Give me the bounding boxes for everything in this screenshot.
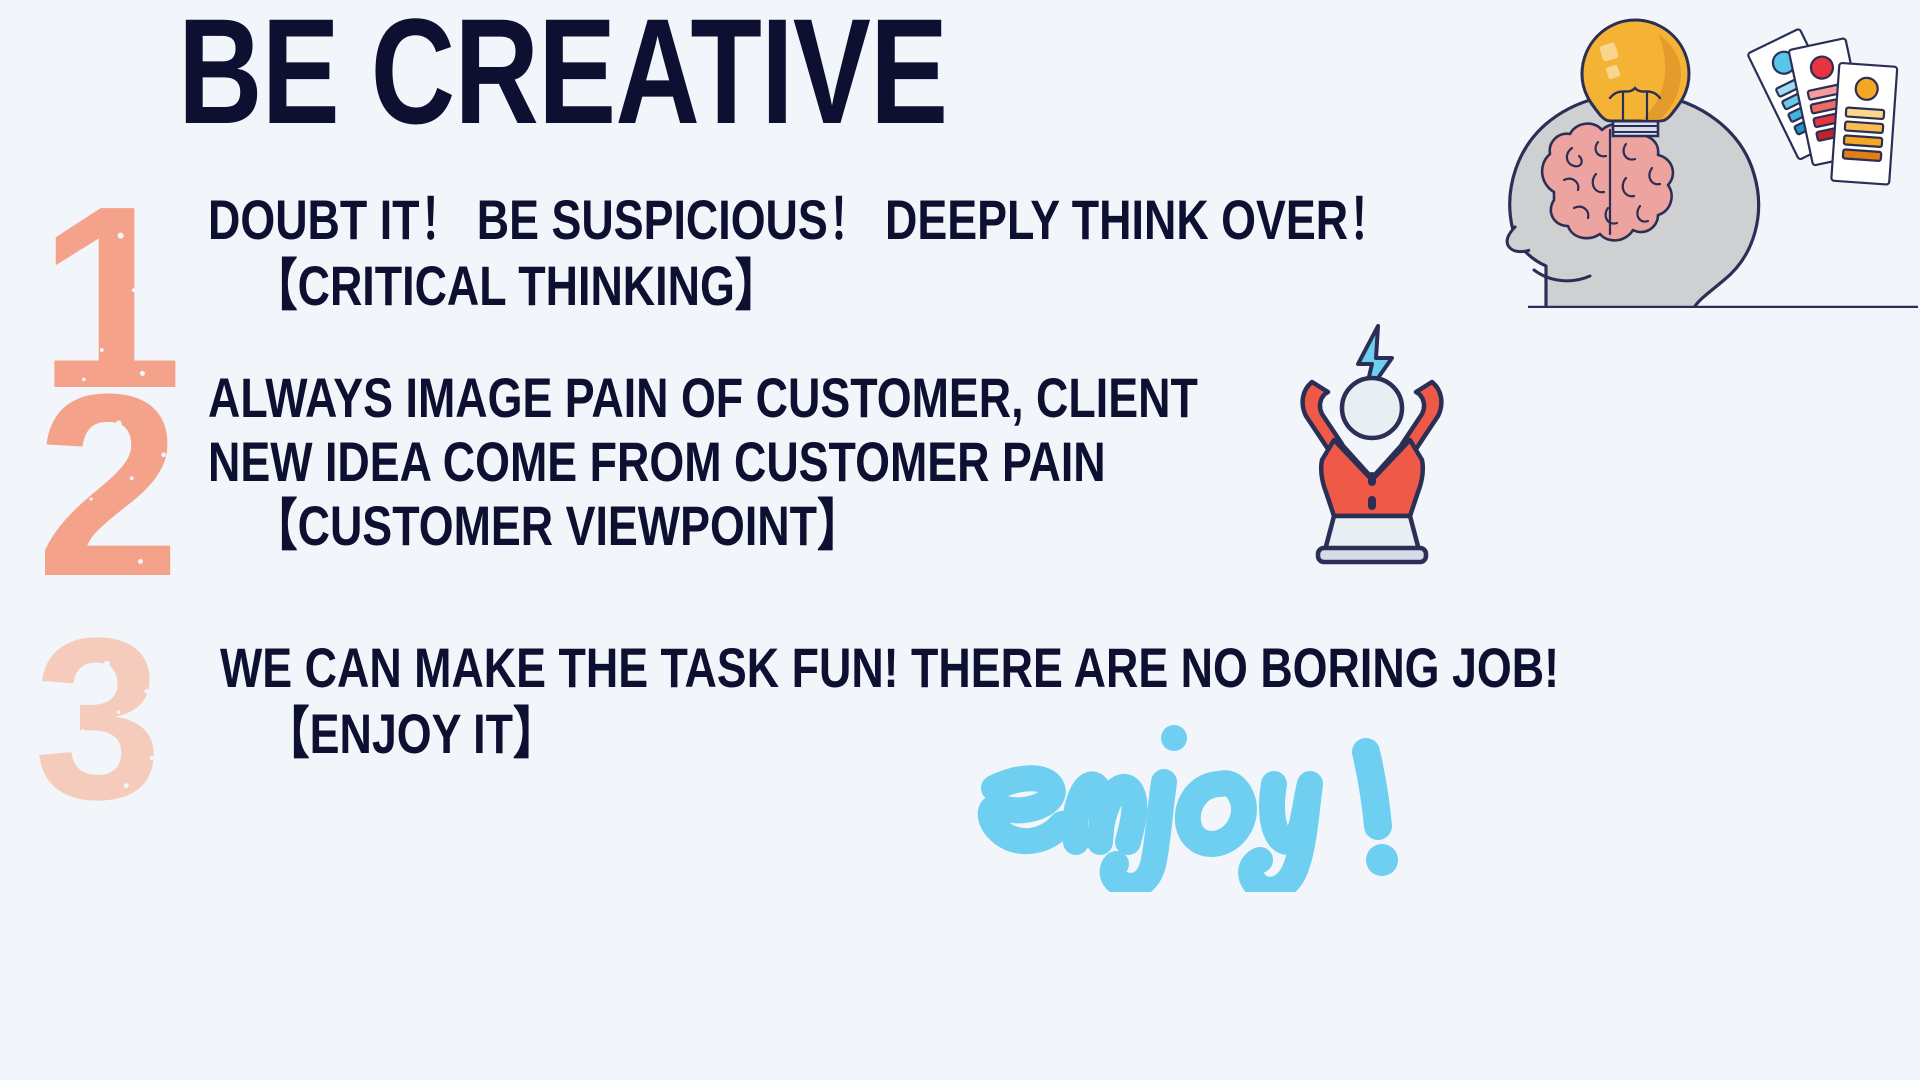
item-2-line-1: ALWAYS IMAGE PAIN OF CUSTOMER, CLIENT	[208, 370, 1198, 426]
item-2-line-3: 【CUSTOMER VIEWPOINT】	[208, 498, 1198, 554]
head-brain-lightbulb-svg	[1358, 8, 1918, 308]
stressed-person-icon	[1272, 320, 1472, 570]
item-1-line-2: 【CRITICAL THINKING】	[208, 258, 1393, 314]
stressed-person-svg	[1272, 320, 1472, 570]
item-2-line-2: NEW IDEA COME FROM CUSTOMER PAIN	[208, 434, 1198, 490]
slide-canvas: BE CREATIVE 1 2 3 DOUBT IT！ BE SUSPICIOU…	[0, 0, 1920, 1080]
item-3-line-1: WE CAN MAKE THE TASK FUN! THERE ARE NO B…	[220, 640, 1559, 696]
enjoy-script-lettering	[968, 692, 1438, 892]
head-brain-lightbulb-icon	[1358, 8, 1918, 308]
numeral-2-glyph: 2	[36, 356, 181, 616]
item-1-line-1: DOUBT IT！ BE SUSPICIOUS！ DEEPLY THINK OV…	[208, 192, 1393, 248]
enjoy-script-svg	[968, 692, 1438, 892]
list-item-2-text: ALWAYS IMAGE PAIN OF CUSTOMER, CLIENT NE…	[208, 370, 1445, 554]
list-numeral-2: 2	[36, 356, 181, 616]
list-numeral-3: 3	[34, 604, 162, 834]
numeral-3-glyph: 3	[34, 604, 162, 834]
page-title: BE CREATIVE	[178, 0, 947, 146]
